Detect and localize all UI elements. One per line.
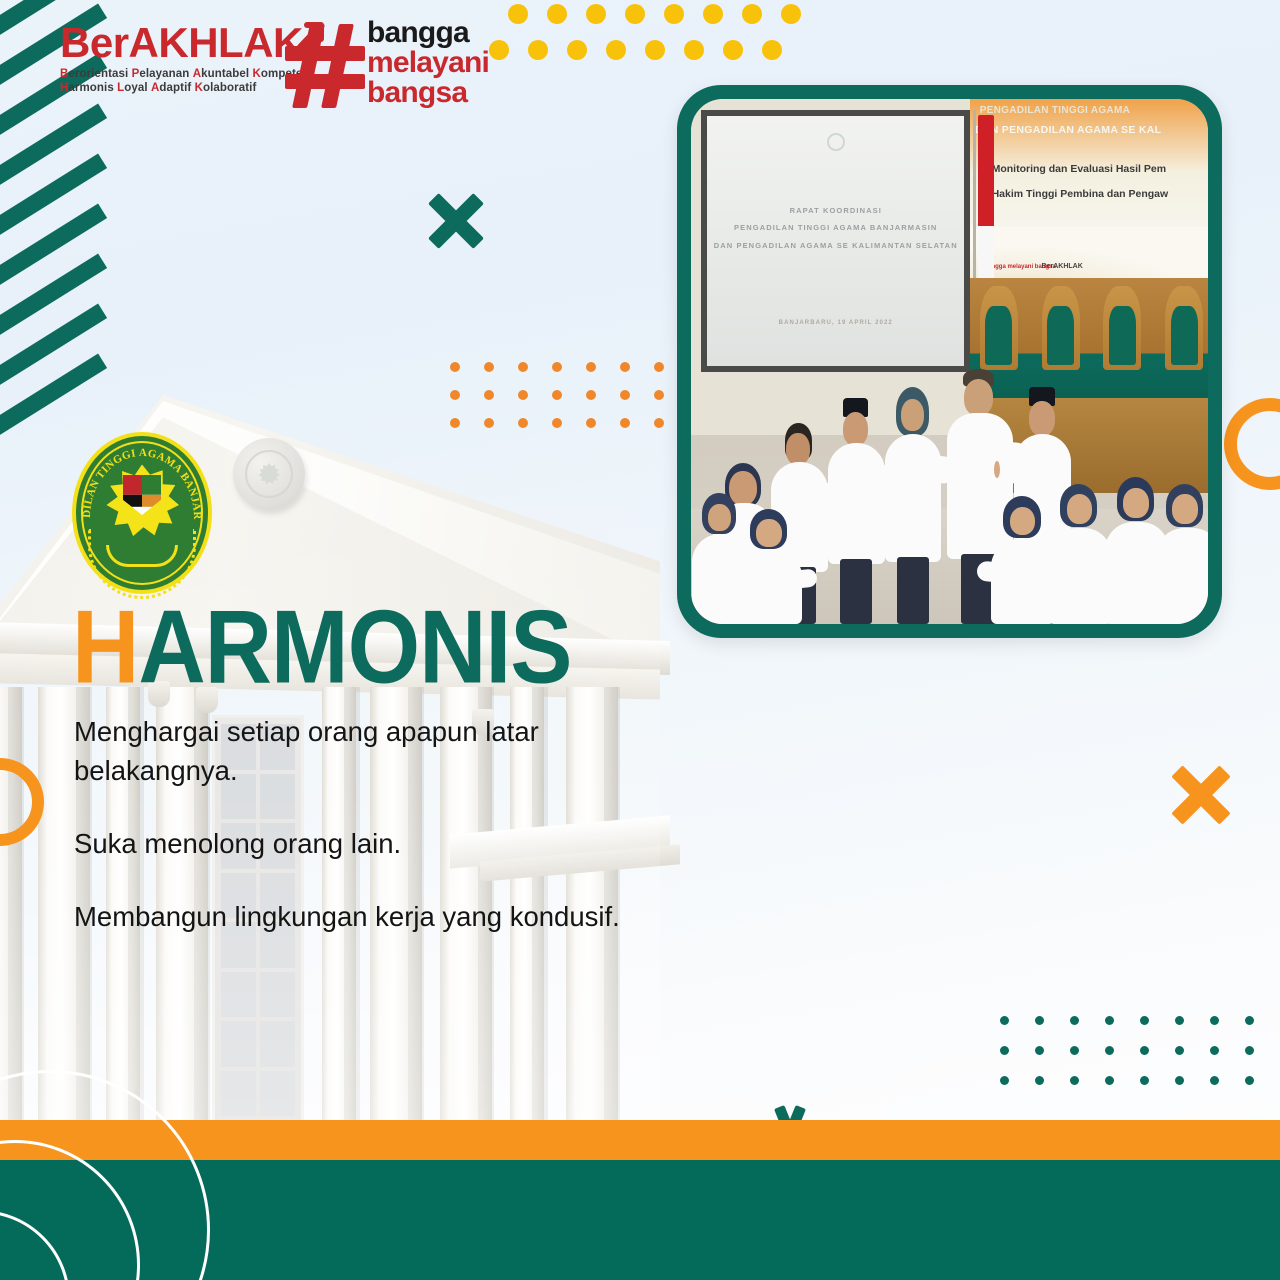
dot [518, 362, 528, 372]
body-text: Menghargai setiap orang apapun latar bel… [74, 712, 634, 936]
orange-x-mark [1168, 762, 1234, 828]
bangga-melayani-bangsa-logo: bangga melayani bangsa [285, 16, 485, 112]
person [1156, 481, 1208, 624]
dot [1070, 1076, 1079, 1085]
body-line-3: Membangun lingkungan kerja yang kondusif… [74, 897, 634, 936]
berakhlak-akhlak: AKHLAK [129, 19, 303, 66]
dot [1175, 1046, 1184, 1055]
dot [1070, 1016, 1079, 1025]
dot [552, 390, 562, 400]
slide-line-3: DAN PENGADILAN AGAMA SE KALIMANTAN SELAT… [707, 241, 964, 250]
hashtag-icon [285, 24, 367, 108]
body-line-2: Suka menolong orang lain. [74, 824, 634, 863]
orange-ring-right [1224, 398, 1280, 490]
page-title: HARMONIS [72, 600, 571, 696]
event-banner: PENGADILAN TINGGI AGAMA DAN PENGADILAN A… [970, 99, 1208, 293]
banner-line-1: PENGADILAN TINGGI AGAMA [980, 105, 1208, 116]
dot [552, 418, 562, 428]
bangga-line-1: bangga [367, 18, 469, 49]
banner-logo-berakhlak: BerAKHLAK [1042, 263, 1083, 270]
dot [484, 362, 494, 372]
title-rest: ARMONIS [138, 588, 571, 705]
dot [450, 362, 460, 372]
dot [518, 390, 528, 400]
bangga-line-2: melayani [367, 48, 489, 79]
concentric-arcs [0, 1060, 220, 1280]
person [738, 507, 805, 624]
dot [1105, 1016, 1114, 1025]
body-line-1: Menghargai setiap orang apapun latar bel… [74, 712, 634, 790]
dot [1105, 1046, 1114, 1055]
dot [484, 390, 494, 400]
dot [1035, 1076, 1044, 1085]
green-dot-grid [1000, 1016, 1250, 1096]
bangga-line-3: bangsa [367, 78, 467, 109]
dot [1245, 1016, 1254, 1025]
banner-line-3: Monitoring dan Evaluasi Hasil Pem [992, 163, 1208, 175]
dot [1070, 1046, 1079, 1055]
dot [552, 362, 562, 372]
dot [1245, 1076, 1254, 1085]
dot [1140, 1046, 1149, 1055]
berakhlak-logo: BerAKHLAK Berorientasi Pelayanan Akuntab… [60, 22, 310, 96]
banner-line-4: Hakim Tinggi Pembina dan Pengaw [992, 188, 1208, 200]
dot [654, 418, 664, 428]
dot [620, 418, 630, 428]
wall-seal-icon [233, 438, 305, 510]
dot [654, 390, 664, 400]
dot [1105, 1076, 1114, 1085]
dot [1175, 1076, 1184, 1085]
dot [1035, 1046, 1044, 1055]
dot [1000, 1016, 1009, 1025]
banner-line-2: DAN PENGADILAN AGAMA SE KAL [975, 124, 1208, 136]
dot [1000, 1046, 1009, 1055]
dot [1175, 1016, 1184, 1025]
dot [450, 418, 460, 428]
dot [484, 418, 494, 428]
berakhlak-ber: Ber [60, 19, 129, 66]
slide-line-2: PENGADILAN TINGGI AGAMA BANJARMASIN [707, 223, 964, 232]
group-photo: RAPAT KOORDINASI PENGADILAN TINGGI AGAMA… [691, 99, 1208, 624]
dot [1210, 1076, 1219, 1085]
green-x-mark [425, 190, 487, 252]
dot [1000, 1076, 1009, 1085]
dot [1035, 1016, 1044, 1025]
dot [1210, 1016, 1219, 1025]
slide-logo-icon [827, 133, 845, 151]
dot [1140, 1016, 1149, 1025]
dot [620, 390, 630, 400]
dot [620, 362, 630, 372]
court-emblem: PENGADILAN TINGGI AGAMA BANJARMASIN [72, 432, 212, 594]
person [882, 377, 949, 624]
orange-dot-grid [450, 362, 660, 432]
dot [586, 390, 596, 400]
poster-canvas: PENGADILAN TINGGI AGAMA BANJARMASIN [0, 0, 1280, 1280]
dot [586, 418, 596, 428]
slide-line-1: RAPAT KOORDINASI [707, 206, 964, 215]
dot [518, 418, 528, 428]
dot [586, 362, 596, 372]
dot [654, 362, 664, 372]
people-group [691, 299, 1208, 625]
dot [1210, 1046, 1219, 1055]
dot [450, 390, 460, 400]
photo-card: RAPAT KOORDINASI PENGADILAN TINGGI AGAMA… [677, 85, 1222, 638]
dot [1140, 1076, 1149, 1085]
title-first-letter: H [72, 588, 138, 705]
dot [1245, 1046, 1254, 1055]
